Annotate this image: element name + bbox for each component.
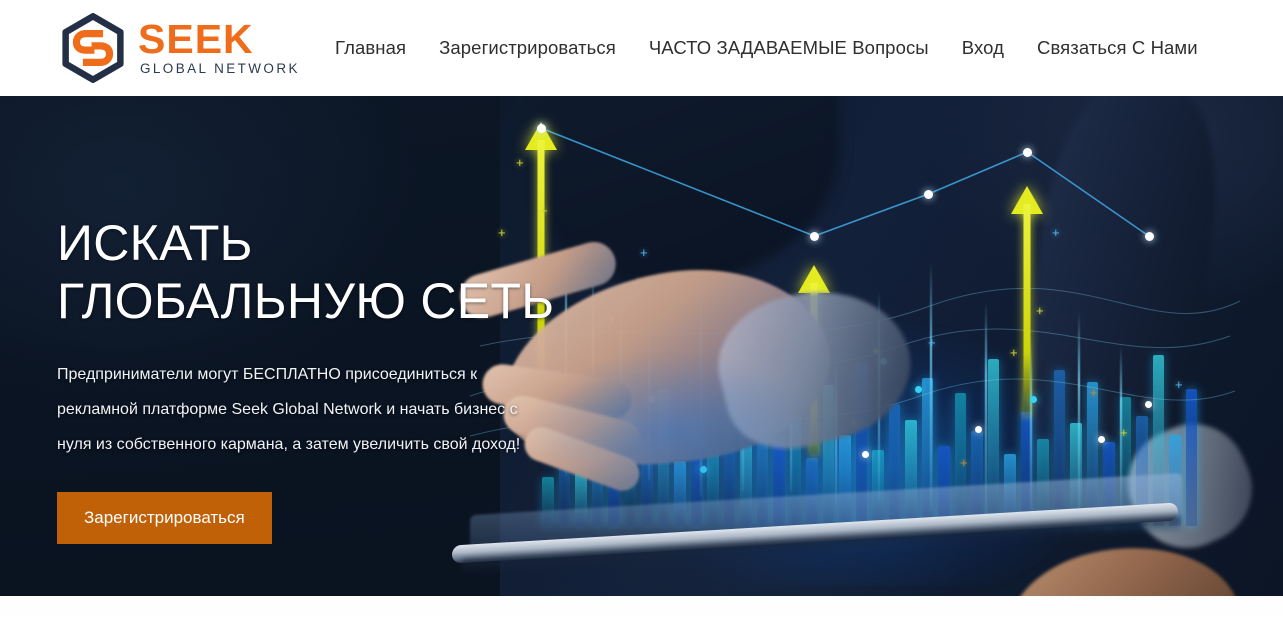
nav-item-login[interactable]: Вход [962, 37, 1004, 59]
brand-logo[interactable]: SEEK GLOBAL NETWORK [57, 12, 300, 84]
sparkle-icon: + [928, 336, 936, 349]
hero-copy: ИСКАТЬ ГЛОБАЛЬНУЮ СЕТЬ Предприниматели м… [57, 214, 557, 544]
nav-item-contact[interactable]: Связаться С Нами [1037, 37, 1198, 59]
hero-paragraph: Предприниматели могут БЕСПЛАТНО присоеди… [57, 357, 537, 462]
page-content-below-hero [0, 596, 1283, 618]
sparkle-icon: + [960, 456, 968, 469]
brand-wordmark: SEEK GLOBAL NETWORK [138, 18, 300, 77]
sparkle-icon: + [516, 156, 524, 169]
chart-dot [1030, 396, 1037, 403]
brand-name: SEEK [138, 20, 300, 59]
sparkle-icon: + [1036, 304, 1044, 317]
main-navigation: Главная Зарегистрироваться ЧАСТО ЗАДАВАЕ… [335, 0, 1198, 96]
hero-section: +++++++++++++++++++ ИСКАТЬ ГЛОБАЛЬНУЮ СЕ… [0, 96, 1283, 596]
sparkle-icon: + [1120, 426, 1128, 439]
sparkle-icon: + [1175, 378, 1183, 391]
nav-item-home[interactable]: Главная [335, 37, 406, 59]
sparkle-icon: + [1052, 226, 1060, 239]
sparkle-icon: + [1090, 386, 1098, 399]
chart-dot [975, 426, 982, 433]
chart-dot [1145, 401, 1152, 408]
site-header: SEEK GLOBAL NETWORK Главная Зарегистриро… [0, 0, 1283, 96]
chart-node [537, 124, 546, 133]
sparkle-icon: + [1010, 346, 1018, 359]
hero-title: ИСКАТЬ ГЛОБАЛЬНУЮ СЕТЬ [57, 214, 557, 330]
brand-tagline: GLOBAL NETWORK [138, 61, 300, 77]
arrow-shaft [1024, 204, 1031, 416]
chart-dot [915, 386, 922, 393]
chart-dot [1098, 436, 1105, 443]
nav-item-faq[interactable]: ЧАСТО ЗАДАВАЕМЫЕ Вопросы [649, 37, 929, 59]
arrow-right-icon [1011, 186, 1043, 416]
nav-item-register[interactable]: Зарегистрироваться [439, 37, 616, 59]
register-button[interactable]: Зарегистрироваться [57, 492, 272, 544]
chart-node [1145, 232, 1154, 241]
hexagon-monogram-icon [57, 12, 129, 84]
